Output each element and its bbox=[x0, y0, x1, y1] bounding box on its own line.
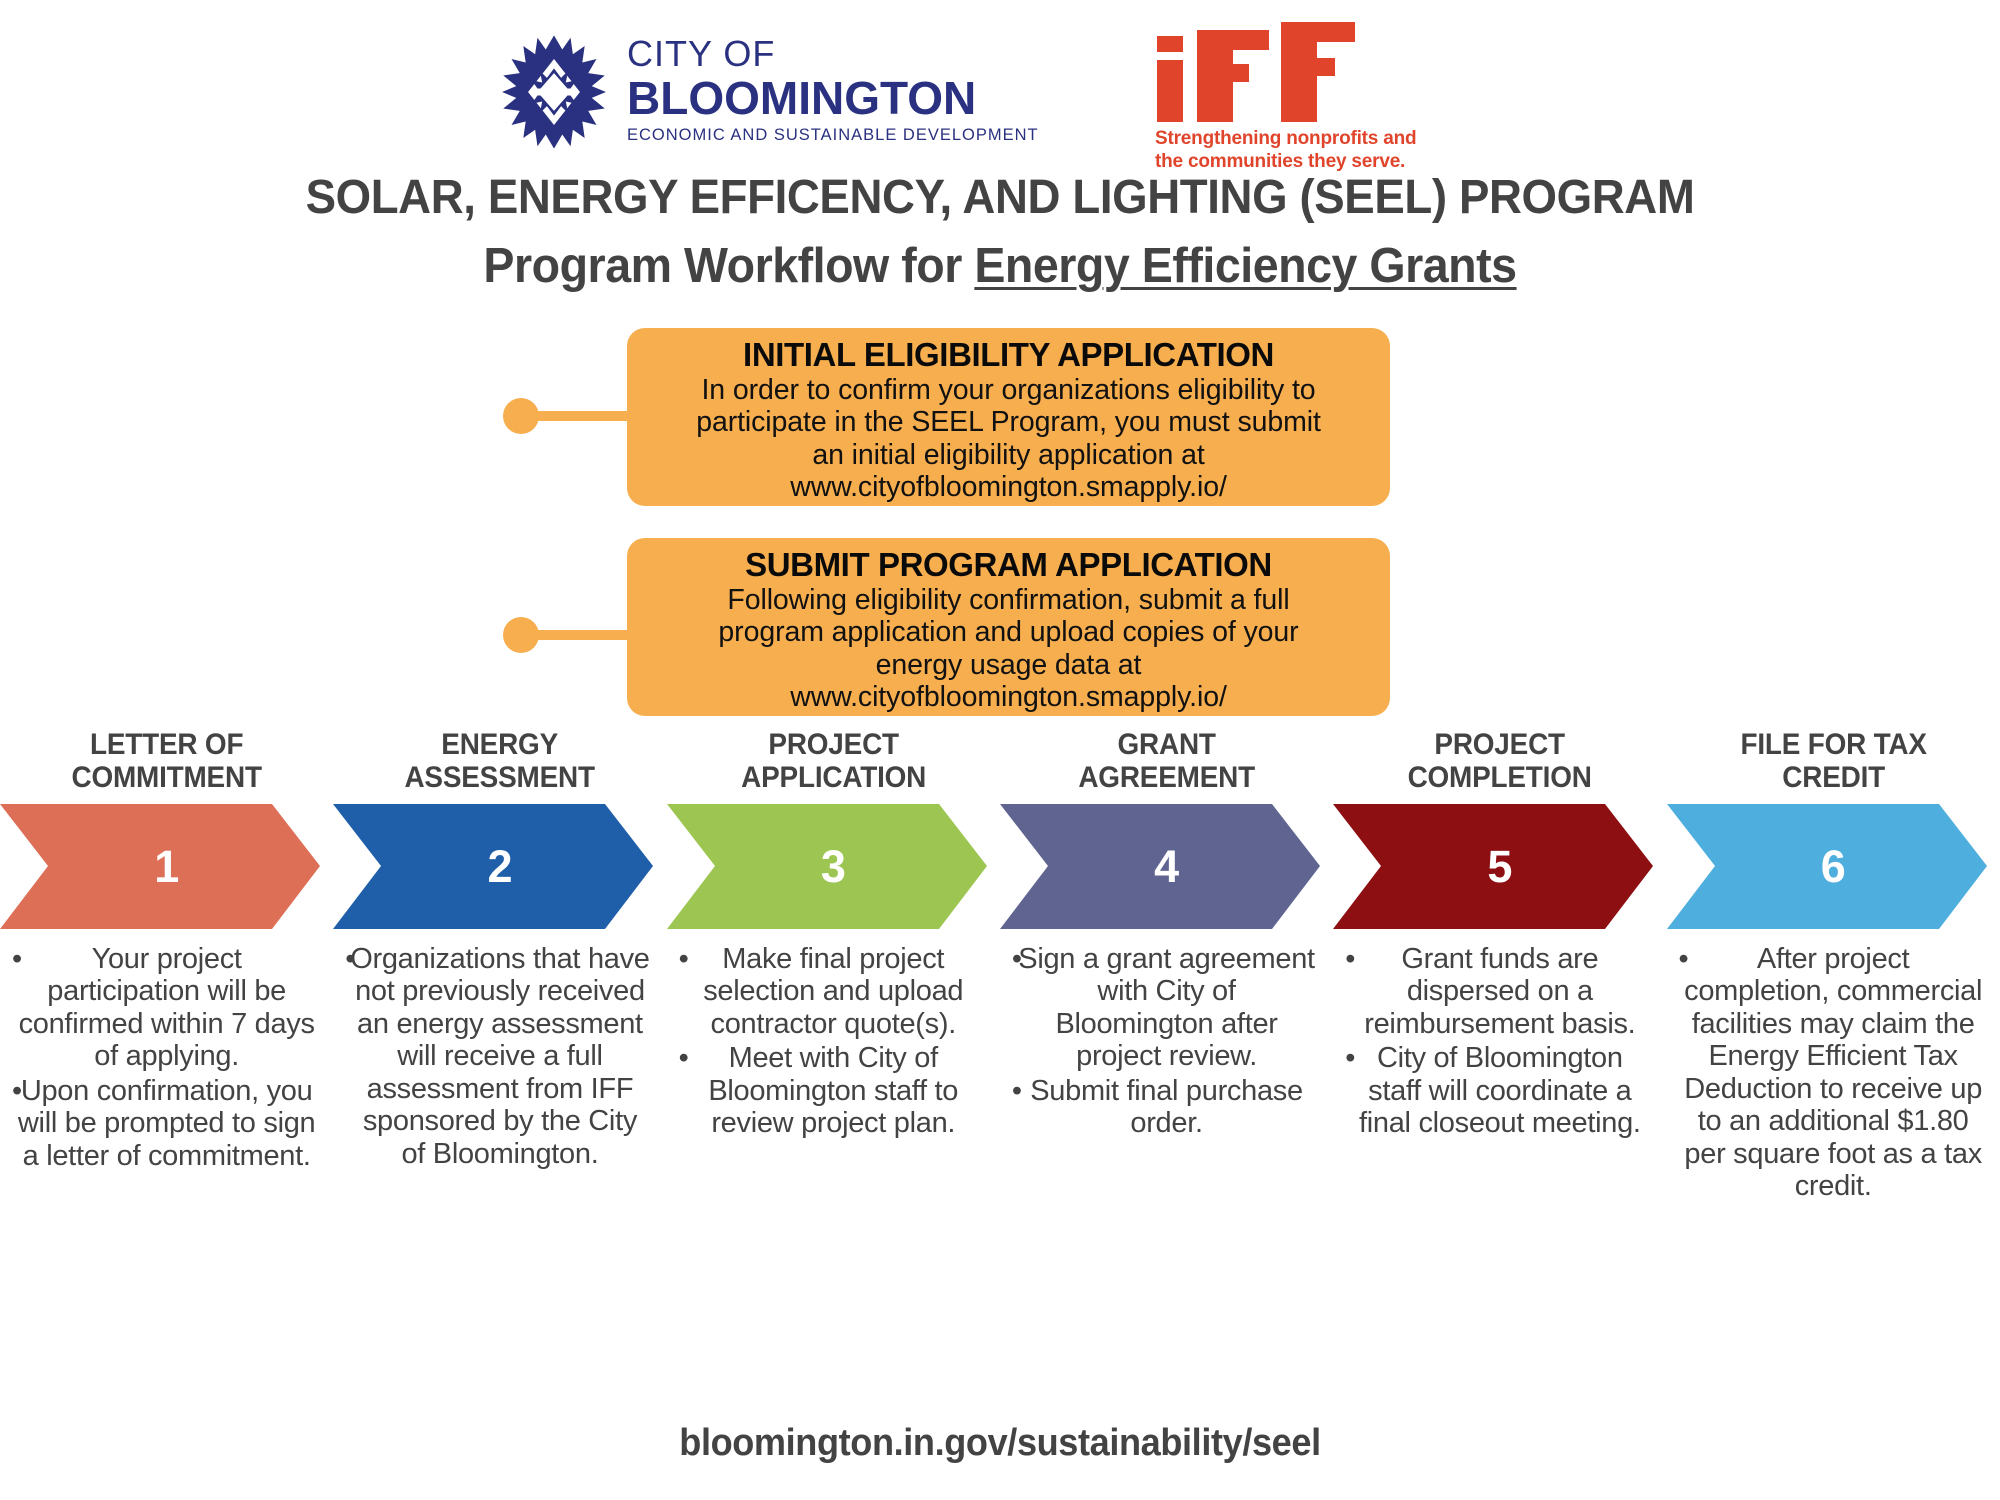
bullet-text: Grant funds are dispersed on a reimburse… bbox=[1364, 943, 1635, 1040]
city-logo-line1: CITY OF bbox=[627, 36, 1039, 72]
bullet-text: Upon confirmation, you will be prompted … bbox=[18, 1075, 315, 1172]
step-heading-line1: GRANT bbox=[1021, 728, 1312, 761]
bullet-dot-icon: • bbox=[1345, 1042, 1355, 1074]
step-heading-line1: FILE FOR TAX bbox=[1687, 728, 1978, 761]
step-heading-1: LETTER OFCOMMITMENT bbox=[12, 728, 322, 804]
callout-body-1: In order to confirm your organizations e… bbox=[645, 374, 1372, 504]
bullet-text: City of Bloomington staff will coordinat… bbox=[1359, 1042, 1641, 1139]
list-item: •City of Bloomington staff will coordina… bbox=[1333, 1042, 1666, 1139]
callout-body-1-line1: In order to confirm your organizations e… bbox=[645, 374, 1372, 406]
step-heading-line2: AGREEMENT bbox=[1021, 761, 1312, 794]
step-bullets-2: •Organizations that have not previously … bbox=[333, 943, 666, 1170]
list-item: •Make final project selection and upload… bbox=[667, 943, 1000, 1040]
step-bullets-4: •Sign a grant agreement with City of Blo… bbox=[1000, 943, 1333, 1140]
bullet-dot-icon: • bbox=[679, 1042, 689, 1074]
bullet-dot-icon: • bbox=[1345, 943, 1355, 975]
step-number-4: 4 bbox=[1000, 804, 1333, 929]
list-item: •Grant funds are dispersed on a reimburs… bbox=[1333, 943, 1666, 1040]
step-heading-5: PROJECTCOMPLETION bbox=[1345, 728, 1655, 804]
bullet-dot-icon: • bbox=[679, 943, 689, 975]
step-chevron-wrap-1: 1 bbox=[0, 804, 333, 929]
list-item: •Submit final purchase order. bbox=[1000, 1075, 1333, 1140]
step-bullets-3: •Make final project selection and upload… bbox=[667, 943, 1000, 1140]
step-number-5: 5 bbox=[1333, 804, 1666, 929]
city-logo-line2: BLOOMINGTON bbox=[627, 74, 1039, 122]
list-item: •Sign a grant agreement with City of Blo… bbox=[1000, 943, 1333, 1073]
callout-body-2-line2: program application and upload copies of… bbox=[645, 616, 1372, 648]
bullet-text: Submit final purchase order. bbox=[1030, 1075, 1303, 1139]
workflow-step-3: PROJECTAPPLICATION3•Make final project s… bbox=[667, 728, 1000, 1142]
bullet-dot-icon: • bbox=[12, 943, 22, 975]
callout-connector-line-1 bbox=[530, 411, 640, 421]
page-title: SOLAR, ENERGY EFFICENCY, AND LIGHTING (S… bbox=[50, 170, 1950, 225]
callout-title-1: INITIAL ELIGIBILITY APPLICATION bbox=[645, 336, 1372, 374]
step-heading-line1: PROJECT bbox=[688, 728, 979, 761]
step-heading-line1: ENERGY bbox=[354, 728, 645, 761]
step-chevron-wrap-2: 2 bbox=[333, 804, 666, 929]
city-logo-tagline: ECONOMIC AND SUSTAINABLE DEVELOPMENT bbox=[627, 126, 1039, 145]
workflow-steps: LETTER OFCOMMITMENT1•Your project partic… bbox=[0, 728, 2000, 1428]
list-item: •Meet with City of Bloomington staff to … bbox=[667, 1042, 1000, 1139]
step-number-3: 3 bbox=[667, 804, 1000, 929]
step-number-6: 6 bbox=[1667, 804, 2000, 929]
step-heading-3: PROJECTAPPLICATION bbox=[678, 728, 988, 804]
list-item: •Organizations that have not previously … bbox=[333, 943, 666, 1170]
step-heading-line2: APPLICATION bbox=[688, 761, 979, 794]
bullet-dot-icon: • bbox=[12, 1075, 22, 1107]
step-bullets-6: •After project completion, commercial fa… bbox=[1667, 943, 2000, 1203]
callout-connector-line-2 bbox=[530, 630, 640, 640]
callout-body-1-line4: www.cityofbloomington.smapply.io/ bbox=[645, 471, 1372, 503]
subtitle-plain: Program Workflow for bbox=[483, 239, 974, 293]
list-item: •Upon confirmation, you will be prompted… bbox=[0, 1075, 333, 1172]
step-bullets-1: •Your project participation will be conf… bbox=[0, 943, 333, 1172]
iff-wordmark-icon bbox=[1155, 22, 1395, 122]
iff-tagline-line1: Strengthening nonprofits and bbox=[1155, 127, 1435, 150]
bullet-text: Make final project selection and upload … bbox=[703, 943, 963, 1040]
step-chevron-wrap-5: 5 bbox=[1333, 804, 1666, 929]
callout-initial-eligibility: INITIAL ELIGIBILITY APPLICATION In order… bbox=[627, 328, 1390, 506]
page-subtitle: Program Workflow for Energy Efficiency G… bbox=[50, 238, 1950, 294]
step-heading-line1: PROJECT bbox=[1354, 728, 1645, 761]
iff-tagline: Strengthening nonprofits and the communi… bbox=[1155, 127, 1435, 173]
step-chevron-wrap-3: 3 bbox=[667, 804, 1000, 929]
city-of-bloomington-logo: CITY OF BLOOMINGTON ECONOMIC AND SUSTAIN… bbox=[495, 32, 1039, 152]
bullet-text: Organizations that have not previously r… bbox=[350, 943, 649, 1170]
workflow-step-4: GRANTAGREEMENT4•Sign a grant agreement w… bbox=[1000, 728, 1333, 1142]
workflow-step-2: ENERGYASSESSMENT2•Organizations that hav… bbox=[333, 728, 666, 1172]
bullet-dot-icon: • bbox=[1012, 943, 1022, 975]
callout-body-2-line4: www.cityofbloomington.smapply.io/ bbox=[645, 681, 1372, 713]
callout-body-2-line1: Following eligibility confirmation, subm… bbox=[645, 584, 1372, 616]
bullet-text: After project completion, commercial fac… bbox=[1684, 943, 1982, 1202]
iff-logo: Strengthening nonprofits and the communi… bbox=[1155, 22, 1435, 173]
workflow-step-6: FILE FOR TAXCREDIT6•After project comple… bbox=[1667, 728, 2000, 1205]
step-number-2: 2 bbox=[333, 804, 666, 929]
callout-body-2-line3: energy usage data at bbox=[645, 649, 1372, 681]
step-heading-4: GRANTAGREEMENT bbox=[1012, 728, 1322, 804]
step-heading-line2: COMPLETION bbox=[1354, 761, 1645, 794]
list-item: •Your project participation will be conf… bbox=[0, 943, 333, 1073]
bullet-dot-icon: • bbox=[345, 943, 355, 975]
step-chevron-wrap-4: 4 bbox=[1000, 804, 1333, 929]
bullet-text: Your project participation will be confi… bbox=[19, 943, 315, 1072]
step-chevron-wrap-6: 6 bbox=[1667, 804, 2000, 929]
workflow-step-1: LETTER OFCOMMITMENT1•Your project partic… bbox=[0, 728, 333, 1174]
list-item: •After project completion, commercial fa… bbox=[1667, 943, 2000, 1203]
callout-body-2: Following eligibility confirmation, subm… bbox=[645, 584, 1372, 714]
step-heading-line2: ASSESSMENT bbox=[354, 761, 645, 794]
subtitle-underlined: Energy Efficiency Grants bbox=[974, 239, 1516, 293]
step-number-1: 1 bbox=[0, 804, 333, 929]
bloomington-starburst-icon bbox=[495, 32, 613, 152]
bullet-dot-icon: • bbox=[1679, 943, 1689, 975]
step-heading-line2: COMMITMENT bbox=[21, 761, 312, 794]
logo-row: CITY OF BLOOMINGTON ECONOMIC AND SUSTAIN… bbox=[0, 14, 2000, 179]
step-heading-line2: CREDIT bbox=[1687, 761, 1978, 794]
callout-title-2: SUBMIT PROGRAM APPLICATION bbox=[645, 546, 1372, 584]
step-heading-6: FILE FOR TAXCREDIT bbox=[1678, 728, 1988, 804]
callout-submit-program-application: SUBMIT PROGRAM APPLICATION Following eli… bbox=[627, 538, 1390, 716]
footer-url: bloomington.in.gov/sustainability/seel bbox=[50, 1422, 1950, 1465]
workflow-step-5: PROJECTCOMPLETION5•Grant funds are dispe… bbox=[1333, 728, 1666, 1142]
callout-body-1-line3: an initial eligibility application at bbox=[645, 439, 1372, 471]
bullet-dot-icon: • bbox=[1012, 1075, 1022, 1107]
bullet-text: Meet with City of Bloomington staff to r… bbox=[708, 1042, 958, 1139]
step-heading-2: ENERGYASSESSMENT bbox=[345, 728, 655, 804]
callout-body-1-line2: participate in the SEEL Program, you mus… bbox=[645, 406, 1372, 438]
bullet-text: Sign a grant agreement with City of Bloo… bbox=[1018, 943, 1314, 1072]
step-bullets-5: •Grant funds are dispersed on a reimburs… bbox=[1333, 943, 1666, 1140]
step-heading-line1: LETTER OF bbox=[21, 728, 312, 761]
